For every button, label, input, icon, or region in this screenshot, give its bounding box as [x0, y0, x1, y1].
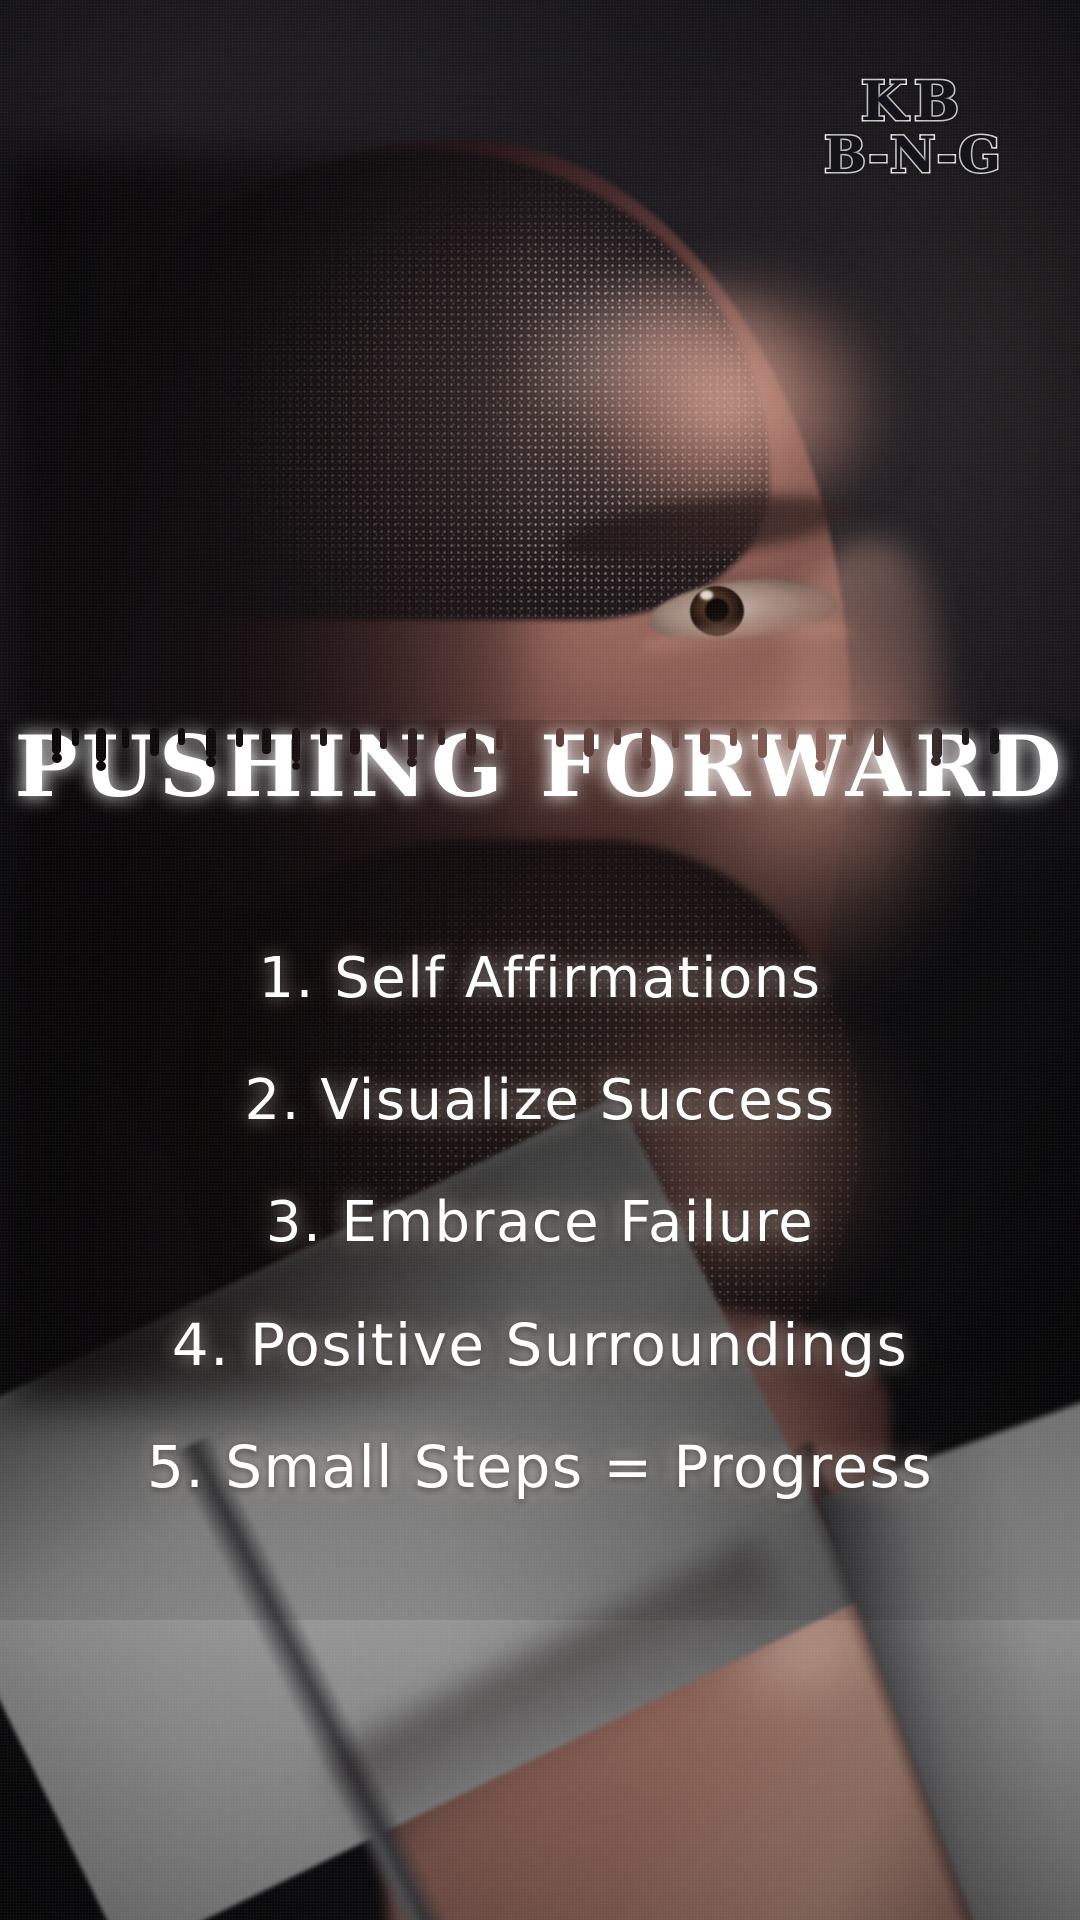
list-item: 2. Visualize Success	[0, 1057, 1080, 1179]
text-overlay: KB B-N-G	[0, 0, 1080, 1920]
list-item: 4. Positive Surroundings	[0, 1301, 1080, 1423]
brand-logo[interactable]: KB B-N-G	[824, 74, 1002, 180]
brand-logo-line2: B-N-G	[824, 130, 1002, 180]
title-text: PUSHING FORWARD	[14, 717, 1065, 816]
brand-logo-line1: KB	[824, 74, 1002, 128]
title-graphic: PUSHING FORWARD	[0, 700, 1080, 840]
list-item: 3. Embrace Failure	[0, 1179, 1080, 1301]
poster-canvas: KB B-N-G	[0, 0, 1080, 1920]
list-item: 1. Self Affirmations	[0, 935, 1080, 1057]
list-item: 5. Small Steps = Progress	[0, 1423, 1080, 1545]
tips-list: 1. Self Affirmations 2. Visualize Succes…	[0, 935, 1080, 1545]
